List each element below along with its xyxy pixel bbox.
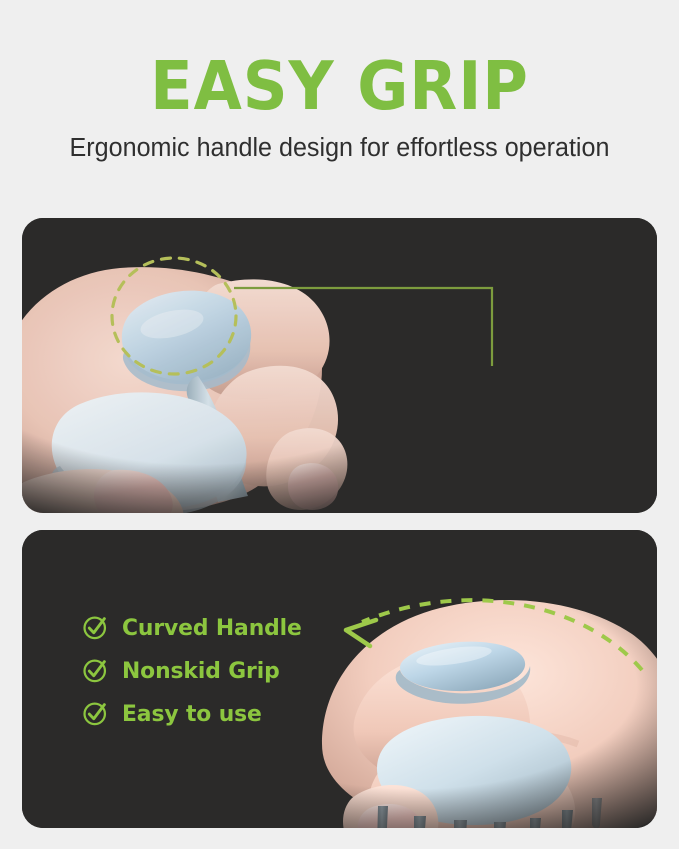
page-title: EASY GRIP <box>24 0 655 122</box>
list-item: Nonskid Grip <box>82 657 307 684</box>
page-header: EASY GRIP Ergonomic handle design for ef… <box>0 0 679 163</box>
feature-label: Curved Handle <box>122 615 302 641</box>
check-circle-icon <box>82 700 109 727</box>
list-item: Easy to use <box>82 700 307 727</box>
feature-label: Easy to use <box>122 701 262 727</box>
page-subtitle: Ergonomic handle design for effortless o… <box>5 122 674 163</box>
card-index-middle-grip: Index-Middle Grip <box>22 218 657 513</box>
check-circle-icon <box>82 614 109 641</box>
feature-list: Curved Handle Nonskid Grip Easy to use <box>82 614 307 727</box>
check-circle-icon <box>82 657 109 684</box>
photo-hand-gripping-knob <box>22 218 657 513</box>
list-item: Curved Handle <box>82 614 307 641</box>
feature-label: Nonskid Grip <box>122 658 280 684</box>
